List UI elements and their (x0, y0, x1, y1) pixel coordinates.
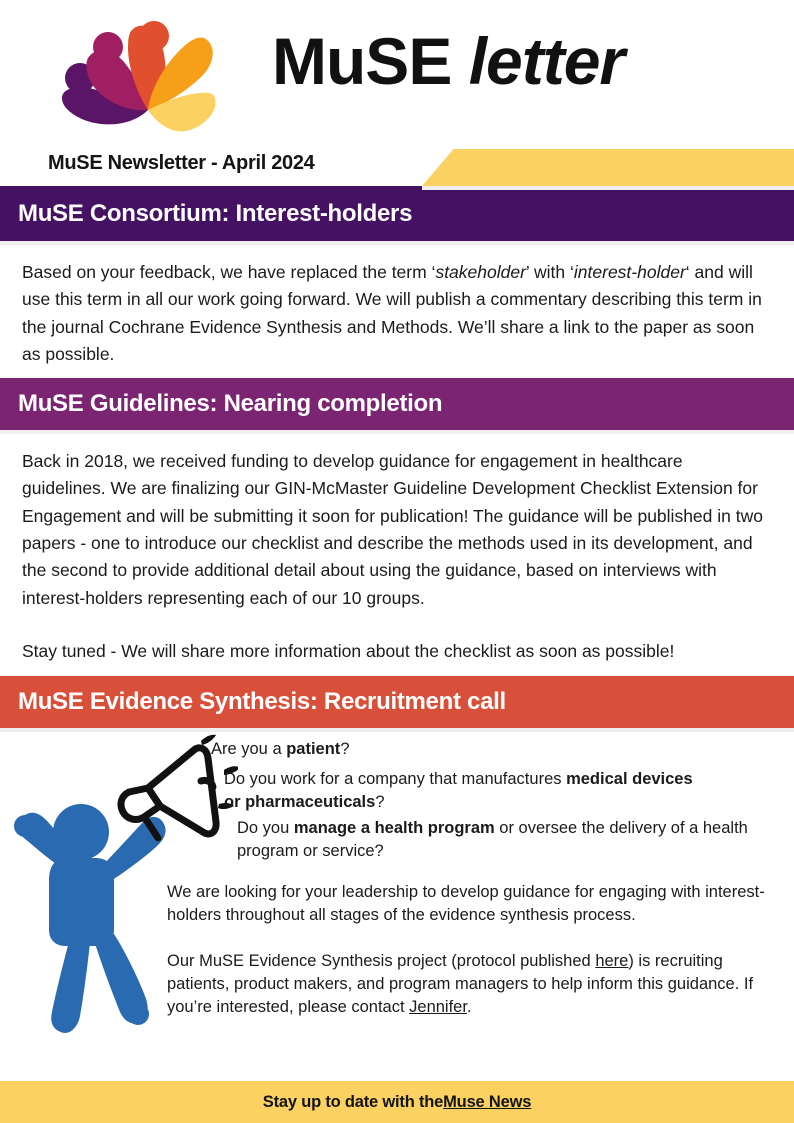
yellow-accent-wedge (422, 149, 794, 186)
recruitment-section: Are you a patient? Do you work for a com… (0, 732, 794, 1050)
protocol-here-link[interactable]: here (595, 952, 628, 970)
tail-part-1: Our MuSE Evidence Synthesis project (pro… (167, 952, 595, 970)
muse-news-link[interactable]: Muse News (443, 1093, 531, 1112)
masthead: MuSE letter MuSE Newsletter - April 2024 (0, 0, 794, 186)
question-prefix: Do you (237, 819, 294, 837)
question-prefix: Do you work for a company that manufactu… (224, 770, 566, 788)
question-emphasis: patient (286, 740, 340, 758)
muse-pinwheel-people-logo (44, 14, 244, 142)
recruitment-question-2: Do you work for a company that manufactu… (224, 768, 704, 815)
paragraph: Back in 2018, we received funding to dev… (22, 448, 770, 612)
section-header-consortium: MuSE Consortium: Interest-holders (0, 186, 794, 241)
footer-bar: Stay up to date with the Muse News (0, 1081, 794, 1123)
section-heading-label: MuSE Consortium: Interest-holders (18, 200, 412, 228)
question-emphasis: manage a health program (294, 819, 495, 837)
section-body-guidelines: Back in 2018, we received funding to dev… (0, 434, 794, 675)
issue-subtitle: MuSE Newsletter - April 2024 (48, 152, 315, 175)
section-heading-label: MuSE Evidence Synthesis: Recruitment cal… (18, 688, 506, 716)
page-title: MuSE letter (272, 28, 624, 94)
wordmark-muse: MuSE (272, 24, 451, 98)
yellow-accent-wedge-shadow (422, 186, 794, 190)
recruitment-question-1: Are you a patient? (211, 738, 771, 761)
footer-prefix-label: Stay up to date with the (263, 1093, 443, 1112)
section-header-evidence-synthesis: MuSE Evidence Synthesis: Recruitment cal… (0, 676, 794, 728)
paragraph: Based on your feedback, we have replaced… (22, 259, 770, 368)
paragraph: Stay tuned - We will share more informat… (22, 638, 770, 665)
recruitment-question-3: Do you manage a health program or overse… (237, 817, 777, 864)
recruitment-text-block: Are you a patient? Do you work for a com… (0, 732, 794, 1050)
wordmark-letter: letter (469, 24, 624, 98)
tail-part-3: . (467, 998, 472, 1016)
recruitment-lead-paragraph: We are looking for your leadership to de… (167, 881, 787, 928)
question-suffix: ? (340, 740, 349, 758)
section-body-consortium: Based on your feedback, we have replaced… (0, 245, 794, 378)
recruitment-tail-paragraph: Our MuSE Evidence Synthesis project (pro… (167, 950, 787, 1020)
question-prefix: Are you a (211, 740, 286, 758)
contact-jennifer-link[interactable]: Jennifer (409, 998, 467, 1016)
question-suffix: ? (375, 793, 384, 811)
section-heading-label: MuSE Guidelines: Nearing completion (18, 390, 442, 418)
section-header-guidelines: MuSE Guidelines: Nearing completion (0, 378, 794, 430)
